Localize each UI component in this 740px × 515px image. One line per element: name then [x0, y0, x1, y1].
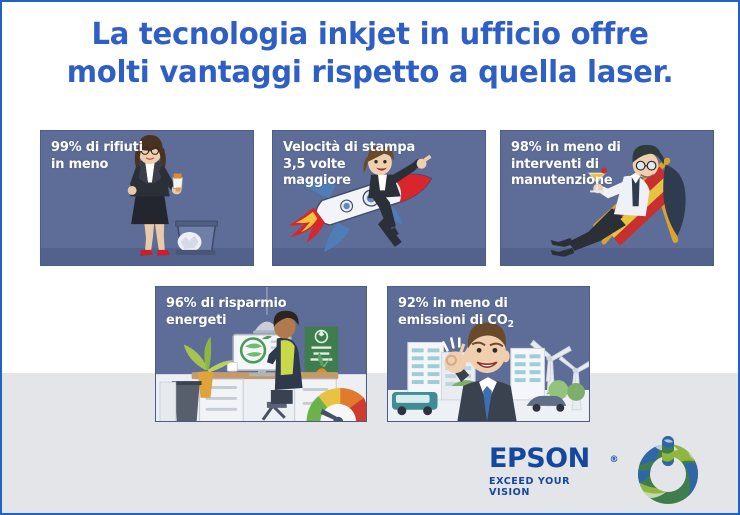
caption-line-1: 99% di rifiuti — [51, 139, 143, 156]
card-caption: 99% di rifiuti in meno — [51, 139, 143, 172]
benefit-card-maintenance: 98% in meno di interventi di manutenzion… — [500, 130, 714, 266]
card-caption: 98% in meno di interventi di manutenzion… — [511, 139, 621, 189]
card-caption: Velocità di stampa 3,5 volte maggiore — [283, 139, 415, 189]
epson-tagline: EXCEED YOUR VISION — [489, 476, 609, 498]
benefit-card-co2: 92% in meno di emissioni di CO2 — [387, 286, 590, 422]
caption-line-3: maggiore — [283, 172, 415, 189]
caption-line-2: in meno — [51, 156, 143, 173]
registered-trademark-icon: ® — [610, 446, 619, 474]
caption-line-2: emissioni di CO2 — [398, 312, 514, 331]
caption-line-1: 96% di risparmio — [166, 295, 287, 312]
caption-line-2: interventi di — [511, 156, 621, 173]
caption-line-2-text: emissioni di CO — [398, 312, 508, 328]
benefit-card-energy: 96% di risparmio energeti — [155, 286, 367, 422]
co2-subscript: 2 — [508, 319, 514, 330]
epson-logo: EPSON® EXCEED YOUR VISION — [489, 445, 609, 491]
page-title: La tecnologia inkjet in ufficio offre mo… — [13, 16, 727, 92]
benefit-card-speed: Velocità di stampa 3,5 volte maggiore — [272, 130, 486, 266]
title-line-2: molti vantaggi rispetto a quella laser. — [13, 54, 727, 92]
card-caption: 92% in meno di emissioni di CO2 — [398, 295, 514, 330]
caption-line-3: manutenzione — [511, 172, 621, 189]
epson-wordmark: EPSON® — [489, 445, 609, 473]
benefit-card-waste: 99% di rifiuti in meno — [40, 130, 254, 266]
caption-line-2: energeti — [166, 312, 287, 329]
power-button-icon — [624, 434, 712, 510]
epson-wordmark-text: EPSON — [489, 443, 590, 474]
title-line-1: La tecnologia inkjet in ufficio offre — [13, 16, 727, 54]
infographic-poster: La tecnologia inkjet in ufficio offre mo… — [0, 0, 740, 515]
card-caption: 96% di risparmio energeti — [166, 295, 287, 328]
caption-line-2: 3,5 volte — [283, 156, 415, 173]
caption-line-1: 92% in meno di — [398, 295, 514, 312]
caption-line-1: 98% in meno di — [511, 139, 621, 156]
caption-line-1: Velocità di stampa — [283, 139, 415, 156]
